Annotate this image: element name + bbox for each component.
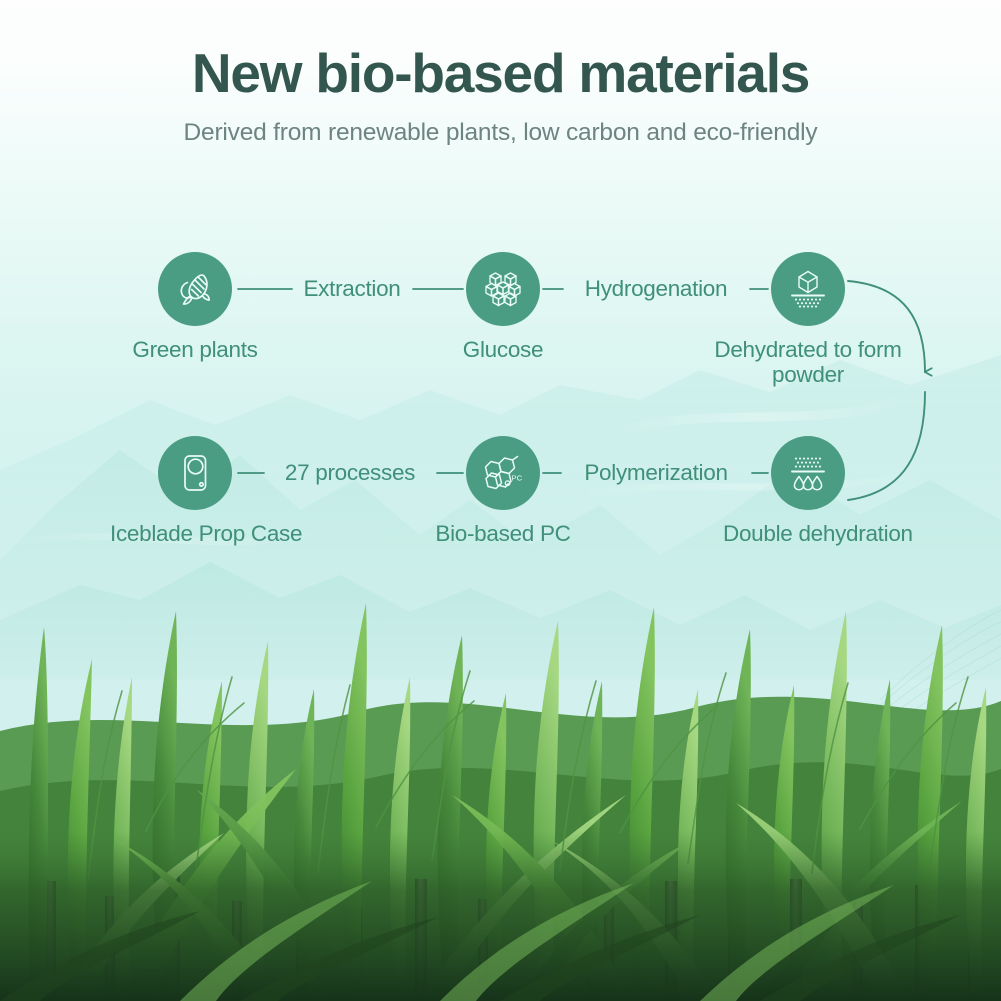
flow-node-label: Double dehydration	[723, 521, 893, 547]
flow-node-bio-based-pc[interactable]: PC Bio-based PC	[418, 436, 588, 547]
flow-node-double-dehydration[interactable]: Double dehydration	[723, 436, 893, 547]
cube-powder-icon	[785, 266, 831, 312]
flow-node-dehydrated-powder[interactable]: Dehydrated to form powder	[723, 252, 893, 387]
flow-node-label: Bio-based PC	[418, 521, 588, 547]
sugarcane-field-photo	[0, 581, 1001, 1001]
molecule-pc-icon: PC	[480, 450, 526, 496]
flow-node-label: Dehydrated to form powder	[693, 337, 923, 387]
flow-node-iceblade-prop-case[interactable]: Iceblade Prop Case	[110, 436, 280, 547]
flow-node-disc	[771, 252, 845, 326]
sugar-cubes-icon	[480, 266, 526, 312]
process-flow-diagram: Green plants	[0, 0, 1001, 600]
flow-node-disc	[158, 252, 232, 326]
flow-connector-hydrogenation: Hydrogenation	[585, 276, 727, 302]
phone-case-icon	[173, 451, 217, 495]
flow-connector-extraction: Extraction	[303, 276, 400, 302]
flow-connector-27-processes: 27 processes	[285, 460, 415, 486]
corn-icon	[173, 267, 217, 311]
flow-node-label: Iceblade Prop Case	[110, 521, 280, 547]
flow-node-disc	[466, 252, 540, 326]
infographic-canvas: New bio-based materials Derived from ren…	[0, 0, 1001, 1001]
powder-droplets-icon	[785, 450, 831, 496]
flow-node-glucose[interactable]: Glucose	[418, 252, 588, 363]
molecule-pc-tag: PC	[512, 473, 523, 482]
flow-node-disc	[158, 436, 232, 510]
flow-connector-polymerization: Polymerization	[584, 460, 727, 486]
flow-node-disc: PC	[466, 436, 540, 510]
flow-node-disc	[771, 436, 845, 510]
flow-node-green-plants[interactable]: Green plants	[110, 252, 280, 363]
flow-node-label: Glucose	[418, 337, 588, 363]
flow-node-label: Green plants	[110, 337, 280, 363]
sugarcane-illustration	[0, 581, 1001, 1001]
